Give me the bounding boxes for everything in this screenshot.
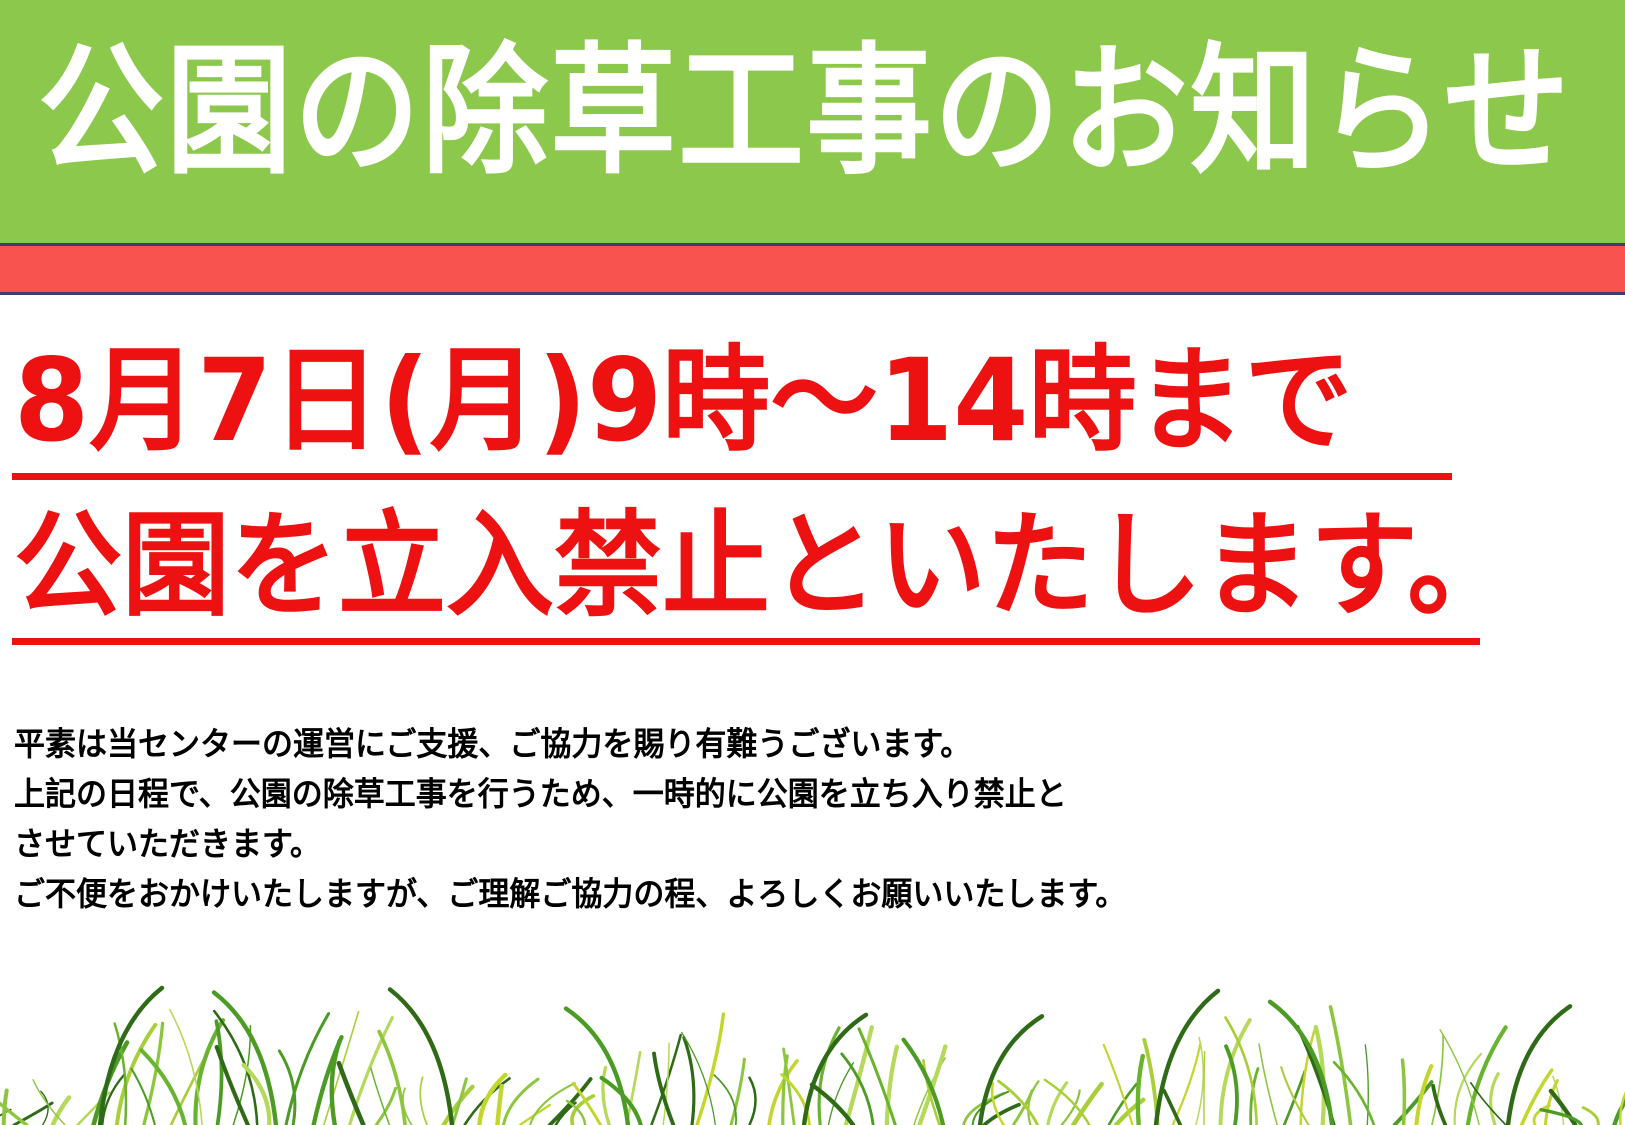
headline-line-1: 8月7日(月)9時～14時まで bbox=[0, 330, 1625, 495]
body-line-2: 上記の日程で、公園の除草工事を行うため、一時的に公園を立ち入り禁止と bbox=[14, 768, 1614, 821]
headline-line-2: 公園を立入禁止といたします。 bbox=[0, 495, 1625, 660]
body-line-3: させていただきます。 bbox=[14, 818, 1614, 871]
page-title: 公園の除草工事のお知らせ bbox=[38, 28, 1598, 196]
body-line-4: ご不便をおかけいたしますが、ご理解ご協力の程、よろしくお願いいたします。 bbox=[14, 868, 1614, 921]
divider-rule-bottom bbox=[0, 292, 1625, 295]
headline-text-date: 8月7日(月)9時～14時まで bbox=[14, 336, 1352, 467]
headline-text-closure: 公園を立入禁止といたします。 bbox=[14, 501, 1515, 632]
body-paragraph: 平素は当センターの運営にご支援、ご協力を賜り有難うございます。 上記の日程で、公… bbox=[14, 718, 1614, 918]
headline-block: 8月7日(月)9時～14時まで 公園を立入禁止といたします。 bbox=[0, 330, 1625, 660]
accent-bar bbox=[0, 246, 1625, 292]
body-line-1: 平素は当センターの運営にご支援、ご協力を賜り有難うございます。 bbox=[14, 718, 1614, 771]
headline-underline-1 bbox=[12, 473, 1452, 480]
header-banner: 公園の除草工事のお知らせ bbox=[0, 0, 1625, 243]
grass-illustration bbox=[0, 965, 1625, 1125]
grass-icon bbox=[0, 965, 1625, 1125]
headline-underline-2 bbox=[12, 638, 1480, 645]
